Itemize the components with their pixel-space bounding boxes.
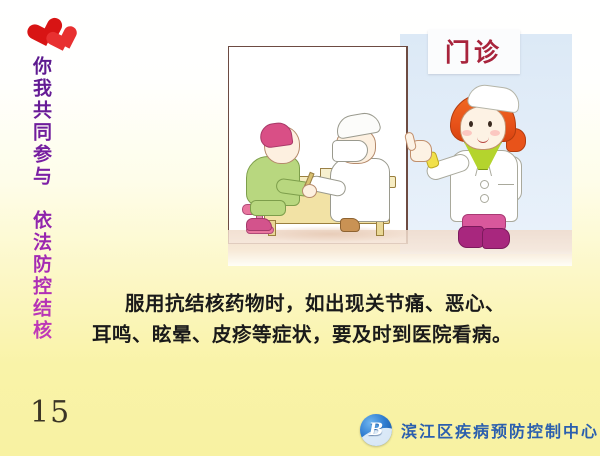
doctor-face-mask (332, 140, 368, 162)
nurse-coat-button-top (480, 180, 489, 189)
nurse-eye-right (488, 121, 492, 127)
caption-line-2: 耳鸣、眩晕、皮疹等症状，要及时到医院看病。 (56, 319, 548, 350)
doctor-shoe (340, 218, 360, 232)
nurse-boot-left (458, 226, 484, 248)
patient-hair (258, 121, 293, 149)
caption-text: 服用抗结核药物时，如出现关节痛、恶心、 耳鸣、眩晕、皮疹等症状，要及时到医院看病… (56, 288, 548, 350)
nurse-eye-left (469, 121, 473, 127)
doctor-figure (324, 114, 400, 234)
poster-page: 你我共同参与 依法防控结核 门诊 (0, 0, 600, 456)
nurse-figure (428, 88, 538, 250)
page-number: 15 (30, 395, 70, 430)
clinic-illustration: 门诊 (228, 30, 572, 266)
nurse-face (460, 106, 506, 150)
patient-leg (250, 200, 286, 216)
nurse-cheek-right (490, 130, 500, 136)
outpatient-sign-text: 门诊 (445, 40, 503, 65)
caption-line-1: 服用抗结核药物时，如出现关节痛、恶心、 (56, 288, 548, 319)
patient-shoe (246, 218, 272, 231)
bjcdc-globe-logo-icon: B (360, 414, 392, 446)
nurse-coat-pocket (498, 184, 514, 188)
outpatient-sign: 门诊 (428, 30, 520, 74)
organization-name: 滨江区疾病预防控制中心 (401, 418, 599, 442)
logo-letter: B (360, 414, 392, 446)
doctor-cap (334, 110, 381, 139)
nurse-coat-button-bottom (480, 194, 489, 203)
doctor-hand (302, 184, 317, 198)
patient-figure (242, 126, 312, 234)
hearts-icon (34, 16, 98, 60)
footer-organization: B 滨江区疾病预防控制中心 (360, 414, 599, 446)
nurse-boot-right (482, 228, 510, 249)
vertical-slogan: 你我共同参与 依法防控结核 (28, 56, 54, 342)
nurse-cheek-left (462, 130, 472, 136)
